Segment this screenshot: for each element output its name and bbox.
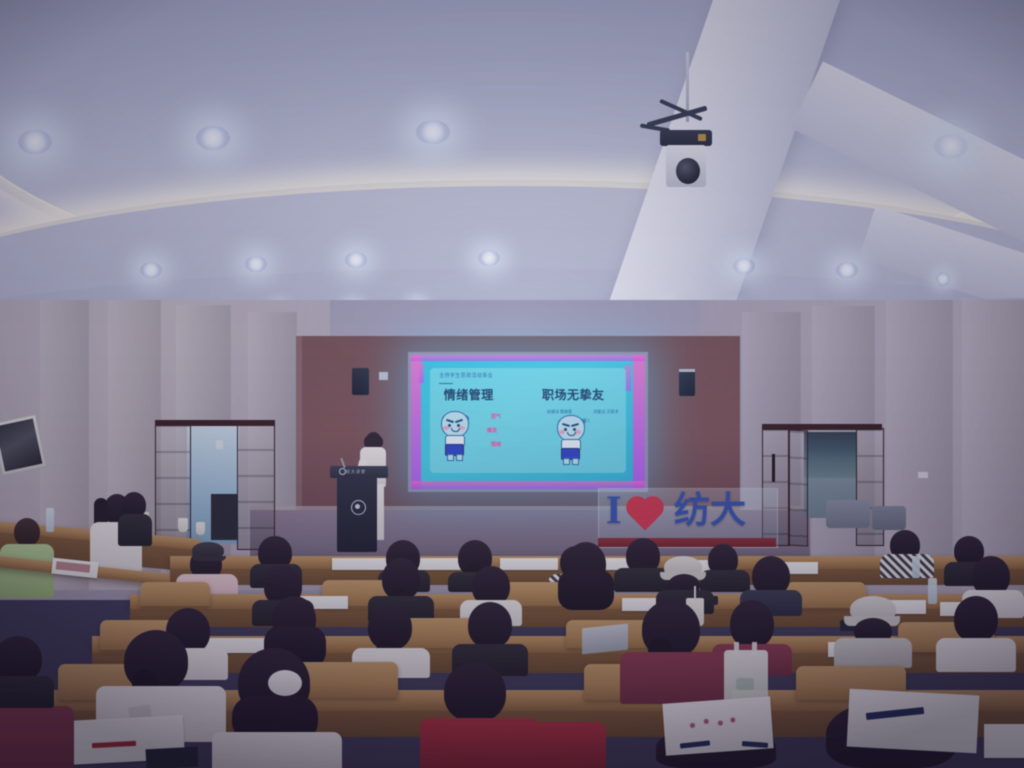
wall-plate: [918, 472, 928, 478]
slide-title-right: 职场无挚友: [542, 386, 605, 403]
student-edge-left-mid: [0, 636, 54, 706]
ceiling-downlight: [936, 272, 950, 286]
student-red-top-front: [446, 722, 606, 768]
projection-screen: 主持学生思政活动事业 情绪管理 职场无挚友 关键词 情绪值 技能点 灭怒术 角色…: [408, 352, 648, 492]
podium-crest-icon: [351, 500, 366, 515]
ceiling-downlight: [416, 120, 450, 144]
ceiling-downlight: [733, 258, 755, 274]
wall-control-panel[interactable]: [379, 372, 388, 380]
cup: [196, 522, 205, 535]
sign-letter-i: I: [606, 490, 622, 530]
wall-speaker-right: [679, 370, 695, 396]
student-scrunchie-bun: [212, 648, 342, 768]
side-chair: [826, 500, 870, 528]
student-grey-cap-rowc: [834, 596, 912, 668]
slide-spark-3: 情绪: [491, 441, 501, 448]
slide-spark-2: 爆发: [487, 427, 497, 434]
slide-content: 主持学生思政活动事业 情绪管理 职场无挚友 关键词 情绪值 技能点 灭怒术 角色…: [411, 355, 645, 489]
student-far-right-b: [880, 530, 934, 576]
right-door-leaf-b[interactable]: [788, 429, 808, 546]
left-door-header: [155, 420, 275, 426]
student-dark-hair-side: [118, 492, 158, 546]
wall-speaker-left: [352, 368, 369, 395]
student-cap-dark: [192, 542, 226, 568]
lecture-hall-photo: 主持学生思政活动事业 情绪管理 职场无挚友 关键词 情绪值 技能点 灭怒术 角色…: [0, 0, 1024, 768]
student-edge-left-front: [0, 706, 74, 768]
ceiling-downlight: [478, 250, 500, 266]
door-handle[interactable]: [772, 454, 775, 482]
bench-back: [140, 582, 210, 606]
student-rowc-far-right: [936, 596, 1016, 672]
notebook: [146, 747, 199, 768]
slide-rule: [439, 383, 453, 384]
slide-kicker: 主持学生思政活动事业: [439, 372, 493, 379]
ceiling-projector: [632, 52, 742, 222]
ceiling-downlight: [140, 262, 162, 278]
left-doorway-group: [155, 420, 295, 550]
ceiling: [0, 0, 1024, 340]
water-bottle: [912, 556, 920, 578]
light-switch-plate[interactable]: [216, 440, 223, 449]
podium-logo-icon: [339, 468, 346, 475]
left-door-leaf-b[interactable]: [237, 422, 275, 550]
slide-character-left: [441, 409, 485, 473]
slide-character-right: [557, 413, 601, 477]
corridor-furniture: [211, 494, 237, 540]
ceiling-downlight: [18, 130, 52, 154]
exterior-window: [804, 432, 856, 480]
slide-title-left: 情绪管理: [444, 386, 494, 403]
drawing-marks: [679, 712, 750, 739]
ceiling-downlight: [345, 252, 367, 268]
podium-label: 纺大讲堂: [346, 469, 366, 475]
paper-sheet: [847, 689, 980, 754]
ceiling-downlight: [934, 134, 968, 158]
drink-straw: [694, 586, 696, 600]
student-longhair-rowb: [552, 542, 620, 622]
paper-stack: [984, 724, 1024, 758]
slide-spark-1: 怒气: [491, 413, 501, 420]
right-door-header: [762, 424, 882, 430]
ceiling-downlight: [245, 256, 267, 272]
stage-edge-left: [296, 336, 302, 526]
ceiling-downlight: [196, 126, 230, 150]
ceiling-downlight: [836, 262, 858, 278]
student-maroon-polo: [620, 600, 732, 704]
cup: [178, 518, 188, 532]
speaker-bracket: [679, 369, 695, 372]
side-chair: [872, 506, 906, 530]
sign-words: 纺大: [674, 492, 746, 528]
